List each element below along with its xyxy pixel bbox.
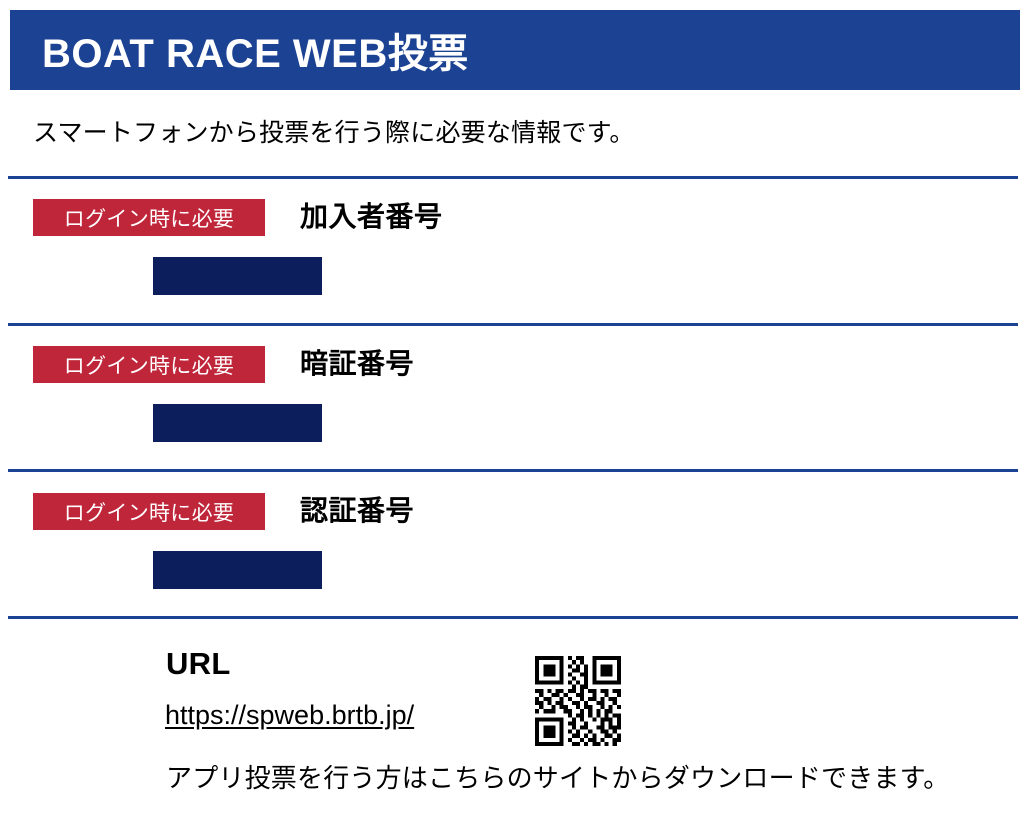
redacted-value-box	[153, 257, 322, 295]
section-title: 暗証番号	[300, 345, 414, 383]
badge-login-required: ログイン時に必要	[33, 199, 265, 236]
badge-login-required: ログイン時に必要	[33, 346, 265, 383]
section-divider	[8, 469, 1018, 472]
url-label: URL	[166, 646, 231, 682]
intro-description: スマートフォンから投票を行う際に必要な情報です。	[33, 113, 635, 149]
redacted-value-box	[153, 404, 322, 442]
page-header: BOAT RACE WEB投票	[10, 10, 1020, 90]
redacted-value-box	[153, 551, 322, 589]
section-divider	[8, 176, 1018, 179]
section-title: 加入者番号	[300, 198, 443, 236]
section-divider	[8, 323, 1018, 326]
section-title: 認証番号	[300, 492, 414, 530]
qr-code-icon[interactable]	[527, 648, 629, 750]
page-root: BOAT RACE WEB投票 スマートフォンから投票を行う際に必要な情報です。…	[0, 0, 1024, 824]
download-note: アプリ投票を行う方はこちらのサイトからダウンロードできます。	[166, 758, 949, 795]
badge-login-required: ログイン時に必要	[33, 493, 265, 530]
page-title: BOAT RACE WEB投票	[42, 21, 469, 79]
section-divider	[8, 616, 1018, 619]
url-link[interactable]: https://spweb.brtb.jp/	[165, 700, 414, 731]
